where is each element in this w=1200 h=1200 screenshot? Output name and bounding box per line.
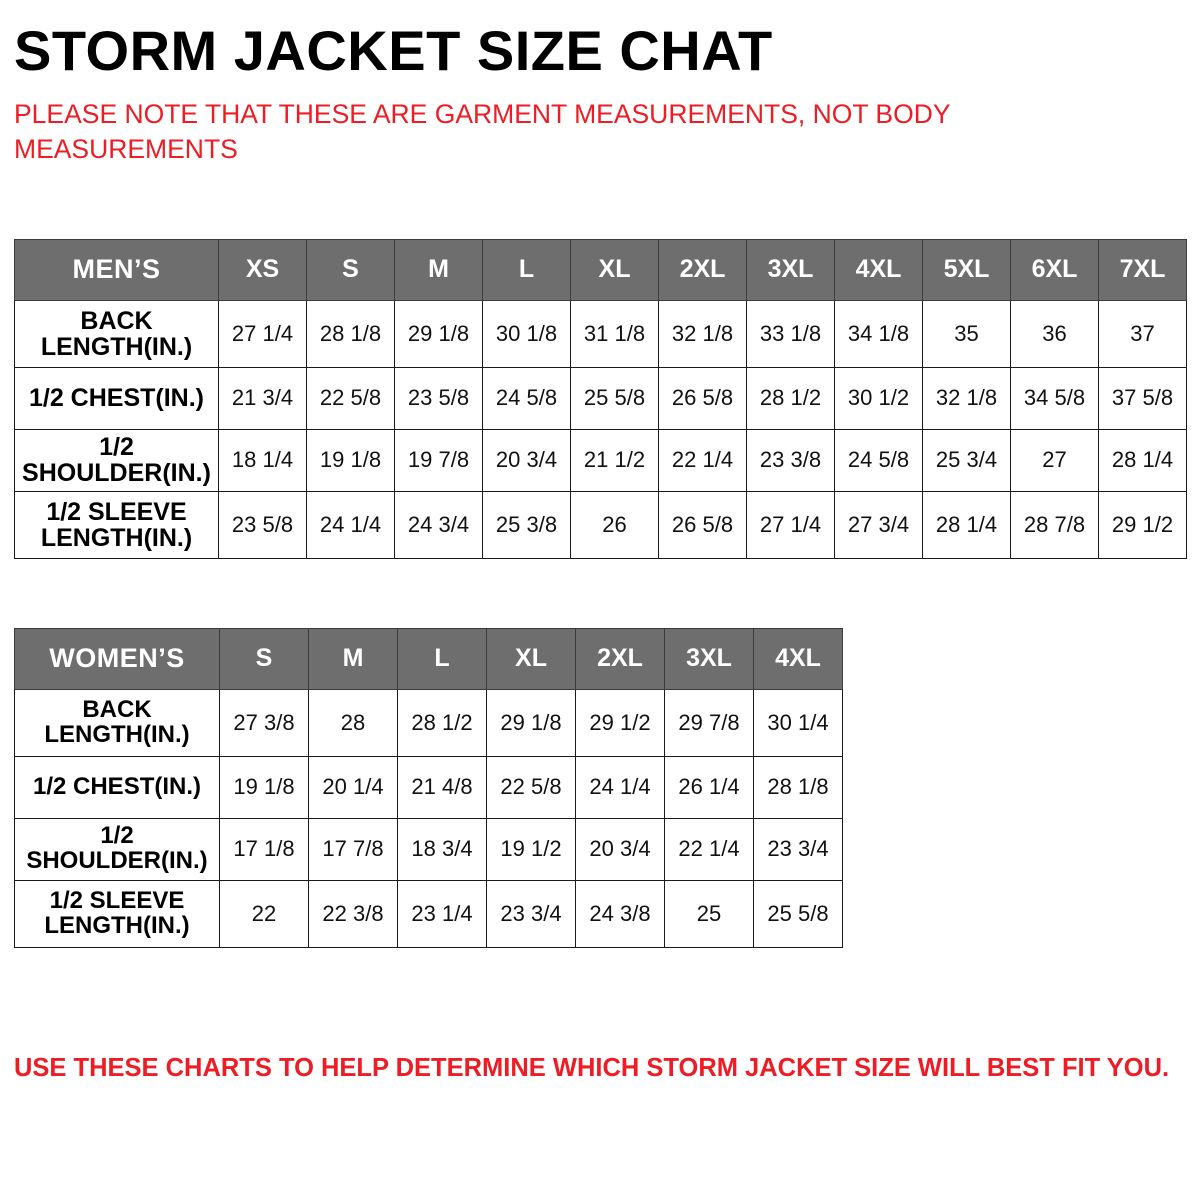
mens-measurement-cell: 34 1/8 [835, 300, 923, 367]
table-row: 1/2 CHEST(IN.)19 1/820 1/421 4/822 5/824… [15, 756, 843, 818]
mens-measurement-cell: 21 1/2 [571, 429, 659, 491]
mens-measurement-cell: 24 5/8 [483, 367, 571, 429]
womens-measurement-cell: 20 3/4 [576, 818, 665, 880]
womens-measurement-cell: 21 4/8 [398, 756, 487, 818]
mens-size-header-4xl: 4XL [835, 239, 923, 300]
mens-measurement-cell: 33 1/8 [747, 300, 835, 367]
womens-measurement-cell: 18 3/4 [398, 818, 487, 880]
womens-row-label: 1/2 SHOULDER(IN.) [15, 818, 220, 880]
mens-measurement-cell: 26 5/8 [659, 367, 747, 429]
mens-measurement-cell: 23 5/8 [219, 491, 307, 558]
womens-row-label: 1/2 SLEEVE LENGTH(IN.) [15, 880, 220, 947]
womens-measurement-cell: 23 3/4 [754, 818, 843, 880]
mens-table-head: MEN’SXSSMLXL2XL3XL4XL5XL6XL7XL [15, 239, 1187, 300]
mens-measurement-cell: 28 1/8 [307, 300, 395, 367]
mens-size-table: MEN’SXSSMLXL2XL3XL4XL5XL6XL7XL BACK LENG… [14, 239, 1187, 559]
table-row: BACK LENGTH(IN.)27 3/82828 1/229 1/829 1… [15, 689, 843, 756]
mens-measurement-cell: 29 1/8 [395, 300, 483, 367]
womens-size-header-2xl: 2XL [576, 628, 665, 689]
womens-measurement-cell: 22 3/8 [309, 880, 398, 947]
table-row: 1/2 SLEEVE LENGTH(IN.)2222 3/823 1/423 3… [15, 880, 843, 947]
mens-measurement-cell: 22 1/4 [659, 429, 747, 491]
mens-size-header-m: M [395, 239, 483, 300]
mens-row-label: 1/2 SLEEVE LENGTH(IN.) [15, 491, 219, 558]
womens-measurement-cell: 19 1/8 [220, 756, 309, 818]
mens-size-header-xl: XL [571, 239, 659, 300]
womens-measurement-cell: 30 1/4 [754, 689, 843, 756]
mens-measurement-cell: 25 3/8 [483, 491, 571, 558]
mens-measurement-cell: 26 [571, 491, 659, 558]
womens-measurement-cell: 23 1/4 [398, 880, 487, 947]
mens-measurement-cell: 19 7/8 [395, 429, 483, 491]
mens-measurement-cell: 22 5/8 [307, 367, 395, 429]
use-charts-note: USE THESE CHARTS TO HELP DETERMINE WHICH… [14, 1054, 1169, 1083]
garment-measurement-note: PLEASE NOTE THAT THESE ARE GARMENT MEASU… [14, 81, 964, 167]
womens-measurement-cell: 22 [220, 880, 309, 947]
mens-size-header-7xl: 7XL [1099, 239, 1187, 300]
mens-row-label: BACK LENGTH(IN.) [15, 300, 219, 367]
page-title: STORM JACKET SIZE CHAT [14, 0, 1186, 81]
womens-size-header-4xl: 4XL [754, 628, 843, 689]
mens-measurement-cell: 28 7/8 [1011, 491, 1099, 558]
womens-row-label: BACK LENGTH(IN.) [15, 689, 220, 756]
womens-measurement-cell: 27 3/8 [220, 689, 309, 756]
mens-measurement-cell: 27 [1011, 429, 1099, 491]
mens-measurement-cell: 28 1/4 [1099, 429, 1187, 491]
mens-measurement-cell: 21 3/4 [219, 367, 307, 429]
mens-measurement-cell: 31 1/8 [571, 300, 659, 367]
mens-measurement-cell: 23 3/8 [747, 429, 835, 491]
mens-measurement-cell: 26 5/8 [659, 491, 747, 558]
womens-measurement-cell: 17 7/8 [309, 818, 398, 880]
mens-size-header-3xl: 3XL [747, 239, 835, 300]
womens-measurement-cell: 28 1/8 [754, 756, 843, 818]
mens-size-header-5xl: 5XL [923, 239, 1011, 300]
mens-measurement-cell: 27 3/4 [835, 491, 923, 558]
womens-corner-label: WOMEN’S [15, 628, 220, 689]
table-row: BACK LENGTH(IN.)27 1/428 1/829 1/830 1/8… [15, 300, 1187, 367]
mens-measurement-cell: 37 [1099, 300, 1187, 367]
mens-size-header-s: S [307, 239, 395, 300]
mens-table-body: BACK LENGTH(IN.)27 1/428 1/829 1/830 1/8… [15, 300, 1187, 558]
womens-header-row: WOMEN’SSMLXL2XL3XL4XL [15, 628, 843, 689]
mens-measurement-cell: 25 3/4 [923, 429, 1011, 491]
womens-measurement-cell: 24 1/4 [576, 756, 665, 818]
mens-measurement-cell: 32 1/8 [923, 367, 1011, 429]
womens-row-label: 1/2 CHEST(IN.) [15, 756, 220, 818]
womens-measurement-cell: 19 1/2 [487, 818, 576, 880]
mens-size-header-2xl: 2XL [659, 239, 747, 300]
womens-measurement-cell: 22 1/4 [665, 818, 754, 880]
mens-size-header-l: L [483, 239, 571, 300]
table-row: 1/2 SHOULDER(IN.)18 1/419 1/819 7/820 3/… [15, 429, 1187, 491]
womens-measurement-cell: 20 1/4 [309, 756, 398, 818]
size-chart-page: STORM JACKET SIZE CHAT PLEASE NOTE THAT … [0, 0, 1200, 1200]
womens-size-header-3xl: 3XL [665, 628, 754, 689]
table-row: 1/2 CHEST(IN.)21 3/422 5/823 5/824 5/825… [15, 367, 1187, 429]
womens-measurement-cell: 25 [665, 880, 754, 947]
mens-measurement-cell: 27 1/4 [219, 300, 307, 367]
mens-measurement-cell: 18 1/4 [219, 429, 307, 491]
mens-corner-label: MEN’S [15, 239, 219, 300]
mens-measurement-cell: 20 3/4 [483, 429, 571, 491]
womens-measurement-cell: 28 1/2 [398, 689, 487, 756]
womens-size-header-m: M [309, 628, 398, 689]
womens-measurement-cell: 24 3/8 [576, 880, 665, 947]
womens-table-body: BACK LENGTH(IN.)27 3/82828 1/229 1/829 1… [15, 689, 843, 947]
mens-measurement-cell: 24 3/4 [395, 491, 483, 558]
womens-measurement-cell: 22 5/8 [487, 756, 576, 818]
mens-measurement-cell: 29 1/2 [1099, 491, 1187, 558]
mens-size-header-xs: XS [219, 239, 307, 300]
mens-row-label: 1/2 CHEST(IN.) [15, 367, 219, 429]
womens-size-header-xl: XL [487, 628, 576, 689]
womens-measurement-cell: 28 [309, 689, 398, 756]
womens-measurement-cell: 29 7/8 [665, 689, 754, 756]
mens-measurement-cell: 35 [923, 300, 1011, 367]
mens-measurement-cell: 37 5/8 [1099, 367, 1187, 429]
mens-measurement-cell: 34 5/8 [1011, 367, 1099, 429]
womens-measurement-cell: 29 1/2 [576, 689, 665, 756]
mens-measurement-cell: 19 1/8 [307, 429, 395, 491]
womens-table-head: WOMEN’SSMLXL2XL3XL4XL [15, 628, 843, 689]
womens-measurement-cell: 26 1/4 [665, 756, 754, 818]
mens-measurement-cell: 27 1/4 [747, 491, 835, 558]
womens-measurement-cell: 23 3/4 [487, 880, 576, 947]
mens-measurement-cell: 24 1/4 [307, 491, 395, 558]
womens-measurement-cell: 17 1/8 [220, 818, 309, 880]
mens-measurement-cell: 24 5/8 [835, 429, 923, 491]
womens-size-header-s: S [220, 628, 309, 689]
mens-header-row: MEN’SXSSMLXL2XL3XL4XL5XL6XL7XL [15, 239, 1187, 300]
table-row: 1/2 SHOULDER(IN.)17 1/817 7/818 3/419 1/… [15, 818, 843, 880]
mens-measurement-cell: 30 1/2 [835, 367, 923, 429]
womens-size-table: WOMEN’SSMLXL2XL3XL4XL BACK LENGTH(IN.)27… [14, 628, 843, 948]
mens-measurement-cell: 28 1/4 [923, 491, 1011, 558]
mens-measurement-cell: 28 1/2 [747, 367, 835, 429]
mens-measurement-cell: 30 1/8 [483, 300, 571, 367]
table-row: 1/2 SLEEVE LENGTH(IN.)23 5/824 1/424 3/4… [15, 491, 1187, 558]
mens-size-header-6xl: 6XL [1011, 239, 1099, 300]
womens-measurement-cell: 25 5/8 [754, 880, 843, 947]
mens-row-label: 1/2 SHOULDER(IN.) [15, 429, 219, 491]
mens-measurement-cell: 25 5/8 [571, 367, 659, 429]
mens-measurement-cell: 36 [1011, 300, 1099, 367]
womens-measurement-cell: 29 1/8 [487, 689, 576, 756]
mens-measurement-cell: 23 5/8 [395, 367, 483, 429]
mens-measurement-cell: 32 1/8 [659, 300, 747, 367]
womens-size-header-l: L [398, 628, 487, 689]
